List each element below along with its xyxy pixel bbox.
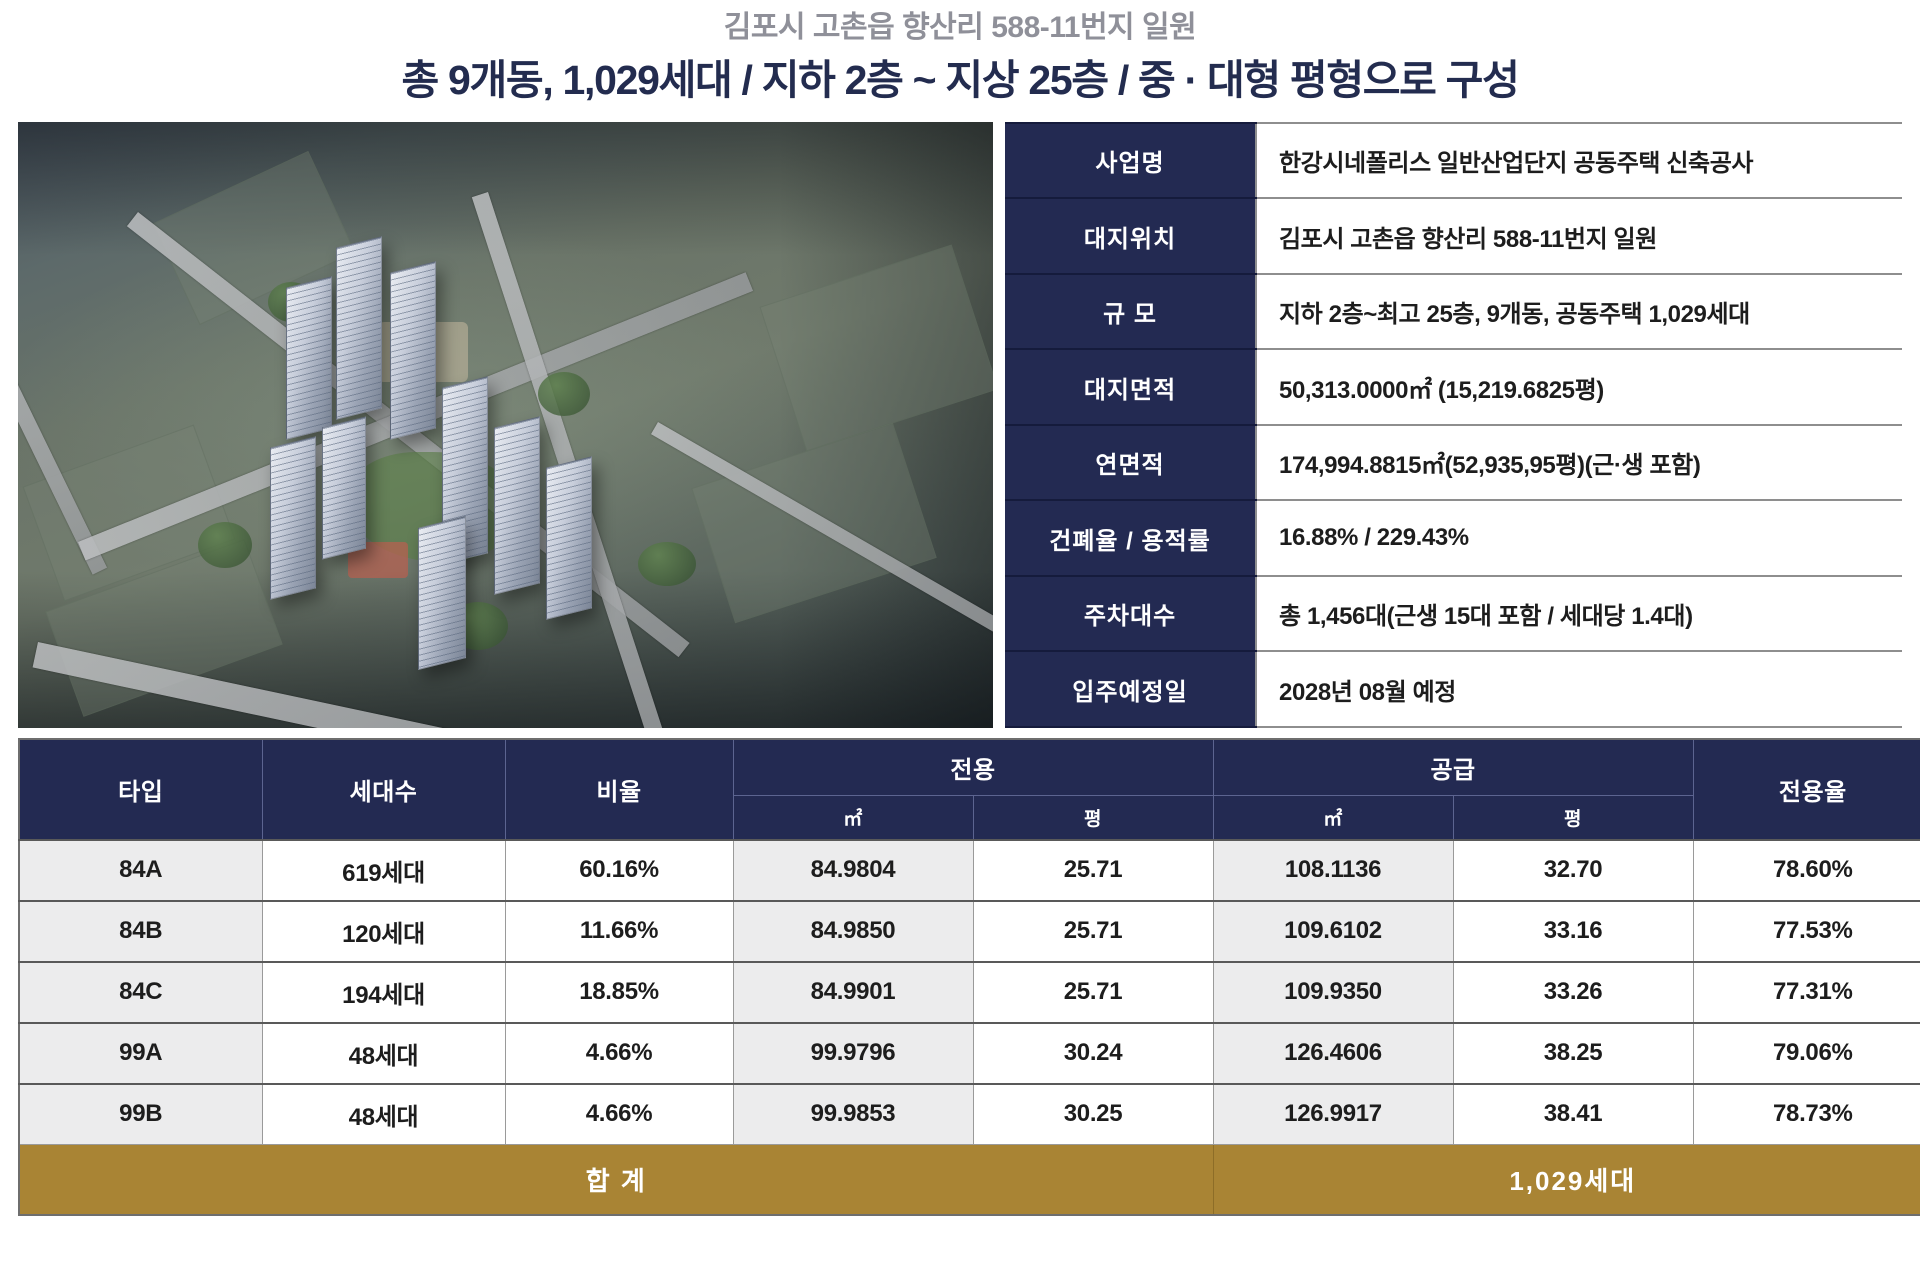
- cell-exclusive-pyeong: 30.25: [973, 1084, 1213, 1145]
- cell-supply-pyeong: 32.70: [1453, 840, 1693, 901]
- spec-row-7: 입주예정일 2028년 08월 예정: [1005, 651, 1902, 727]
- col-header-households: 세대수: [262, 739, 505, 840]
- table-row: 84A 619세대 60.16% 84.9804 25.71 108.1136 …: [19, 840, 1920, 901]
- cell-supply-sqm: 109.6102: [1213, 901, 1453, 962]
- col-header-supply-pyeong: 평: [1453, 795, 1693, 840]
- cell-exclusive-pyeong: 25.71: [973, 901, 1213, 962]
- table-row: 84C 194세대 18.85% 84.9901 25.71 109.9350 …: [19, 962, 1920, 1023]
- spec-value-3: 50,313.0000㎡ (15,219.6825평): [1256, 349, 1902, 425]
- cell-exclusive-pyeong: 25.71: [973, 962, 1213, 1023]
- spec-label-7: 입주예정일: [1005, 651, 1256, 727]
- spec-label-2: 규 모: [1005, 274, 1256, 350]
- heading-block: 김포시 고촌읍 향산리 588-11번지 일원 총 9개동, 1,029세대 /…: [18, 0, 1902, 108]
- table-row: 99A 48세대 4.66% 99.9796 30.24 126.4606 38…: [19, 1023, 1920, 1084]
- tree-cluster: [538, 372, 590, 416]
- cell-type: 99B: [19, 1084, 262, 1145]
- apartment-tower: [336, 236, 382, 419]
- cell-ratio: 4.66%: [505, 1023, 733, 1084]
- cell-ratio: 4.66%: [505, 1084, 733, 1145]
- cell-exclusive-sqm: 99.9796: [733, 1023, 973, 1084]
- cell-supply-sqm: 126.9917: [1213, 1084, 1453, 1145]
- cell-supply-pyeong: 33.26: [1453, 962, 1693, 1023]
- spec-value-5: 16.88% / 229.43%: [1256, 500, 1902, 576]
- cell-exclusive-sqm: 99.9853: [733, 1084, 973, 1145]
- tree-cluster: [198, 522, 252, 568]
- total-row: 합 계 1,029세대: [19, 1144, 1920, 1215]
- unit-table-body: 84A 619세대 60.16% 84.9804 25.71 108.1136 …: [19, 840, 1920, 1145]
- spec-row-4: 연면적 174,994.8815㎡(52,935,95평)(근·생 포함): [1005, 425, 1902, 501]
- cell-exclusive-rate: 77.53%: [1693, 901, 1920, 962]
- col-header-ratio: 비율: [505, 739, 733, 840]
- page-title: 총 9개동, 1,029세대 / 지하 2층 ~ 지상 25층 / 중 · 대형…: [18, 53, 1902, 108]
- total-label: 합 계: [19, 1144, 1213, 1215]
- apartment-tower: [418, 516, 466, 670]
- spec-value-1: 김포시 고촌읍 향산리 588-11번지 일원: [1256, 198, 1902, 274]
- cell-supply-sqm: 126.4606: [1213, 1023, 1453, 1084]
- cell-exclusive-rate: 78.73%: [1693, 1084, 1920, 1145]
- cell-supply-sqm: 108.1136: [1213, 840, 1453, 901]
- cell-ratio: 18.85%: [505, 962, 733, 1023]
- cell-type: 99A: [19, 1023, 262, 1084]
- col-header-type: 타입: [19, 739, 262, 840]
- spec-row-3: 대지면적 50,313.0000㎡ (15,219.6825평): [1005, 349, 1902, 425]
- col-header-exclusive: 전용: [733, 739, 1213, 796]
- table-row: 84B 120세대 11.66% 84.9850 25.71 109.6102 …: [19, 901, 1920, 962]
- spec-value-0: 한강시네폴리스 일반산업단지 공동주택 신축공사: [1256, 123, 1902, 199]
- apartment-tower: [494, 416, 540, 594]
- total-value: 1,029세대: [1213, 1144, 1920, 1215]
- cell-exclusive-rate: 77.31%: [1693, 962, 1920, 1023]
- cell-exclusive-rate: 79.06%: [1693, 1023, 1920, 1084]
- cell-ratio: 11.66%: [505, 901, 733, 962]
- spec-value-2: 지하 2층~최고 25층, 9개동, 공동주택 1,029세대: [1256, 274, 1902, 350]
- cell-households: 194세대: [262, 962, 505, 1023]
- spec-value-7: 2028년 08월 예정: [1256, 651, 1902, 727]
- spec-value-4: 174,994.8815㎡(52,935,95평)(근·생 포함): [1256, 425, 1902, 501]
- aerial-rendering-image: [18, 122, 993, 728]
- cell-households: 120세대: [262, 901, 505, 962]
- unit-header-row-1: 타입 세대수 비율 전용 공급 전용율: [19, 739, 1920, 796]
- apartment-tower: [546, 456, 592, 619]
- cell-exclusive-sqm: 84.9804: [733, 840, 973, 901]
- cell-households: 48세대: [262, 1023, 505, 1084]
- spec-row-6: 주차대수 총 1,456대(근생 15대 포함 / 세대당 1.4대): [1005, 576, 1902, 652]
- unit-table-head: 타입 세대수 비율 전용 공급 전용율 ㎡ 평 ㎡ 평: [19, 739, 1920, 840]
- spec-row-2: 규 모 지하 2층~최고 25층, 9개동, 공동주택 1,029세대: [1005, 274, 1902, 350]
- cell-exclusive-pyeong: 25.71: [973, 840, 1213, 901]
- cell-type: 84A: [19, 840, 262, 901]
- spec-table-body: 사업명 한강시네폴리스 일반산업단지 공동주택 신축공사 대지위치 김포시 고촌…: [1005, 123, 1902, 727]
- spec-value-6: 총 1,456대(근생 15대 포함 / 세대당 1.4대): [1256, 576, 1902, 652]
- spec-label-4: 연면적: [1005, 425, 1256, 501]
- col-header-supply: 공급: [1213, 739, 1693, 796]
- cell-supply-sqm: 109.9350: [1213, 962, 1453, 1023]
- col-header-supply-sqm: ㎡: [1213, 795, 1453, 840]
- col-header-exclusive-pyeong: 평: [973, 795, 1213, 840]
- apartment-tower: [270, 436, 316, 599]
- spec-row-1: 대지위치 김포시 고촌읍 향산리 588-11번지 일원: [1005, 198, 1902, 274]
- top-area: 사업명 한강시네폴리스 일반산업단지 공동주택 신축공사 대지위치 김포시 고촌…: [18, 122, 1902, 728]
- cell-households: 619세대: [262, 840, 505, 901]
- tree-cluster: [638, 542, 696, 586]
- spec-row-0: 사업명 한강시네폴리스 일반산업단지 공동주택 신축공사: [1005, 123, 1902, 199]
- cell-households: 48세대: [262, 1084, 505, 1145]
- spec-label-1: 대지위치: [1005, 198, 1256, 274]
- cell-supply-pyeong: 33.16: [1453, 901, 1693, 962]
- unit-table-foot: 합 계 1,029세대: [19, 1144, 1920, 1215]
- cell-ratio: 60.16%: [505, 840, 733, 901]
- cell-exclusive-pyeong: 30.24: [973, 1023, 1213, 1084]
- spec-label-0: 사업명: [1005, 123, 1256, 199]
- cell-exclusive-sqm: 84.9901: [733, 962, 973, 1023]
- page-subtitle: 김포시 고촌읍 향산리 588-11번지 일원: [18, 8, 1902, 49]
- spec-label-3: 대지면적: [1005, 349, 1256, 425]
- cell-exclusive-rate: 78.60%: [1693, 840, 1920, 901]
- cell-exclusive-sqm: 84.9850: [733, 901, 973, 962]
- cell-type: 84C: [19, 962, 262, 1023]
- apartment-tower: [322, 416, 366, 559]
- col-header-exclusive-rate: 전용율: [1693, 739, 1920, 840]
- cell-supply-pyeong: 38.25: [1453, 1023, 1693, 1084]
- cell-supply-pyeong: 38.41: [1453, 1084, 1693, 1145]
- unit-mix-table: 타입 세대수 비율 전용 공급 전용율 ㎡ 평 ㎡ 평 84A 619세대 60…: [18, 738, 1920, 1216]
- spec-label-6: 주차대수: [1005, 576, 1256, 652]
- spec-label-5: 건폐율 / 용적률: [1005, 500, 1256, 576]
- project-overview-page: 김포시 고촌읍 향산리 588-11번지 일원 총 9개동, 1,029세대 /…: [0, 0, 1920, 1286]
- apartment-tower: [390, 261, 436, 439]
- spec-row-5: 건폐율 / 용적률 16.88% / 229.43%: [1005, 500, 1902, 576]
- project-spec-table: 사업명 한강시네폴리스 일반산업단지 공동주택 신축공사 대지위치 김포시 고촌…: [1005, 122, 1902, 728]
- col-header-exclusive-sqm: ㎡: [733, 795, 973, 840]
- apartment-tower: [286, 276, 332, 439]
- cell-type: 84B: [19, 901, 262, 962]
- table-row: 99B 48세대 4.66% 99.9853 30.25 126.9917 38…: [19, 1084, 1920, 1145]
